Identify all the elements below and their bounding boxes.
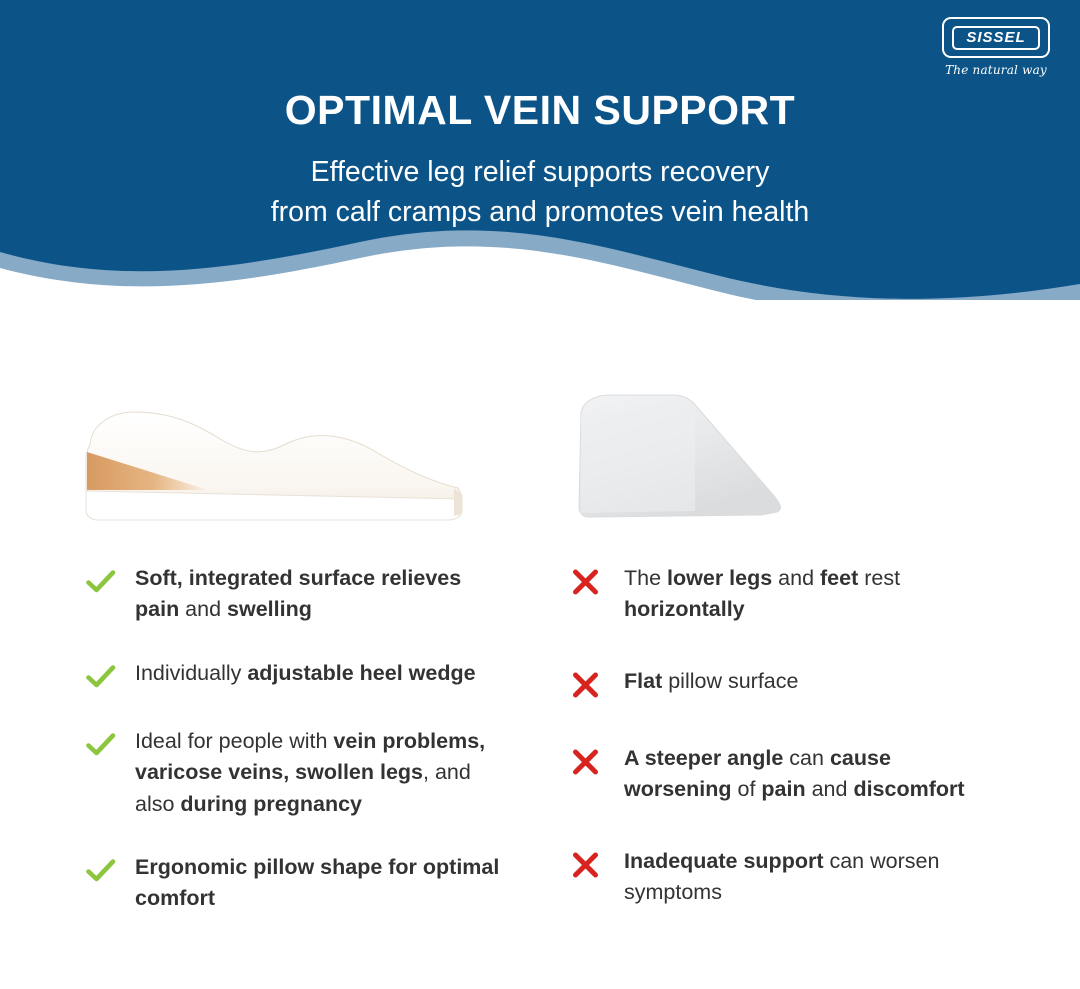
cons-column: The lower legs and feet rest horizontall…: [572, 563, 1002, 948]
list-item-text: Soft, integrated surface relieves pain a…: [135, 563, 506, 626]
ergonomic-pillow-image: [76, 398, 476, 533]
list-item-text: The lower legs and feet rest horizontall…: [624, 563, 1002, 626]
list-item: Individually adjustable heel wedge: [86, 658, 506, 694]
list-item-text: Ideal for people with vein problems, var…: [135, 726, 506, 820]
logo-inner-frame: SISSEL: [952, 26, 1040, 50]
list-item: Inadequate support can worsen symptoms: [572, 846, 1002, 909]
check-icon: [86, 852, 135, 888]
list-item-text: Inadequate support can worsen symptoms: [624, 846, 1002, 909]
list-item: Ergonomic pillow shape for optimal comfo…: [86, 852, 506, 915]
logo-badge: SISSEL: [942, 17, 1050, 58]
list-item-text: Individually adjustable heel wedge: [135, 658, 506, 689]
sissel-logo: SISSEL The natural way: [942, 17, 1062, 87]
page-subtitle: Effective leg relief supports recovery f…: [0, 152, 1080, 233]
cross-icon: [572, 743, 624, 780]
list-item-text: A steeper angle can cause worsening of p…: [624, 743, 1002, 806]
cross-icon: [572, 563, 624, 600]
page-subtitle-line-1: Effective leg relief supports recovery: [0, 152, 1080, 192]
page-header: OPTIMAL VEIN SUPPORT Effective leg relie…: [0, 0, 1080, 300]
cross-icon: [572, 666, 624, 703]
wedge-pillow-image: [565, 385, 985, 535]
check-icon: [86, 563, 135, 599]
list-item: Ideal for people with vein problems, var…: [86, 726, 506, 820]
list-item-text: Flat pillow surface: [624, 666, 1002, 697]
logo-brand-text: SISSEL: [966, 30, 1025, 45]
pros-column: Soft, integrated surface relieves pain a…: [86, 563, 506, 947]
check-icon: [86, 726, 135, 762]
wedge-front-face: [581, 409, 695, 513]
list-item: A steeper angle can cause worsening of p…: [572, 743, 1002, 806]
list-item: Flat pillow surface: [572, 666, 1002, 703]
list-item: The lower legs and feet rest horizontall…: [572, 563, 1002, 626]
pillow-right-edge: [454, 488, 462, 516]
logo-tagline: The natural way: [942, 63, 1050, 77]
page-title: OPTIMAL VEIN SUPPORT: [0, 89, 1080, 132]
list-item: Soft, integrated surface relieves pain a…: [86, 563, 506, 626]
page-subtitle-line-2: from calf cramps and promotes vein healt…: [0, 192, 1080, 232]
list-item-text: Ergonomic pillow shape for optimal comfo…: [135, 852, 506, 915]
cross-icon: [572, 846, 624, 883]
check-icon: [86, 658, 135, 694]
